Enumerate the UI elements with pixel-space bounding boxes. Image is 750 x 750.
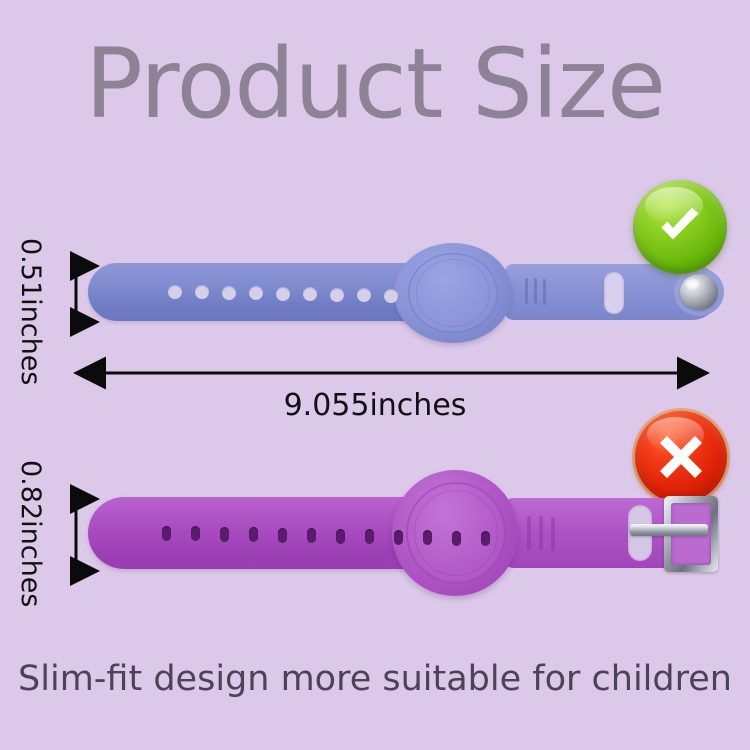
- product-size-infographic: Product Size: [0, 0, 750, 750]
- strap-hole: [365, 529, 374, 544]
- product-bottom-band: [0, 0, 750, 750]
- strap-hole: [249, 527, 258, 542]
- strap-hole: [394, 530, 403, 545]
- strap-hole: [278, 528, 287, 543]
- cross-icon: [655, 431, 707, 483]
- bottom-band-ridge: [551, 517, 555, 551]
- bottom-thickness-label: 0.82inches: [15, 460, 46, 607]
- bottom-band-ridge: [527, 516, 531, 550]
- strap-hole: [452, 531, 461, 546]
- strap-hole: [423, 530, 432, 545]
- strap-hole: [162, 526, 171, 541]
- page-caption: Slim-fit design more suitable for childr…: [0, 658, 750, 700]
- bottom-band-ridge: [539, 516, 543, 550]
- strap-hole: [191, 526, 200, 541]
- check-icon: [652, 199, 708, 255]
- strap-hole: [481, 531, 490, 546]
- bottom-thickness-arrow: [62, 491, 90, 579]
- strap-hole: [307, 528, 316, 543]
- strap-hole: [220, 527, 229, 542]
- bottom-band-buckle-prong: [630, 524, 708, 536]
- strap-hole: [336, 529, 345, 544]
